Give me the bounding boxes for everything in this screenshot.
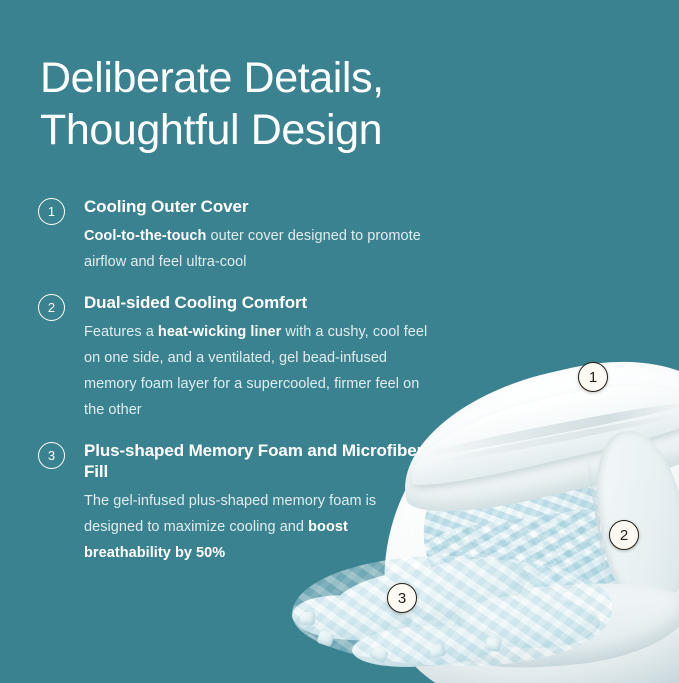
feature-body-1-bold: Cool-to-the-touch	[84, 228, 206, 244]
text-content-layer: Deliberate Details, Thoughtful Design 1 …	[0, 0, 679, 683]
feature-number-badge-3: 3	[38, 442, 65, 469]
feature-list: 1 Cooling Outer Cover Cool-to-the-touch …	[38, 196, 438, 583]
page-title: Deliberate Details, Thoughtful Design	[40, 52, 560, 156]
feature-number-badge-1: 1	[38, 198, 65, 225]
feature-item-3: 3 Plus-shaped Memory Foam and Microfiber…	[38, 440, 438, 566]
product-feature-graphic: 1 2 3 Deliberate Details, Thoughtful Des…	[0, 0, 679, 683]
feature-number-badge-2: 2	[38, 294, 65, 321]
feature-heading-2: Dual-sided Cooling Comfort	[84, 292, 438, 313]
feature-heading-3: Plus-shaped Memory Foam and Microfiber F…	[84, 440, 438, 482]
feature-item-2: 2 Dual-sided Cooling Comfort Features a …	[38, 292, 438, 423]
feature-body-2-before: Features a	[84, 324, 158, 340]
feature-body-2-bold: heat-wicking liner	[158, 324, 281, 340]
feature-heading-1: Cooling Outer Cover	[84, 196, 438, 217]
feature-body-1: Cool-to-the-touch outer cover designed t…	[84, 223, 438, 275]
feature-item-1: 1 Cooling Outer Cover Cool-to-the-touch …	[38, 196, 438, 275]
feature-body-2: Features a heat-wicking liner with a cus…	[84, 319, 438, 423]
feature-body-3: The gel-infused plus-shaped memory foam …	[84, 488, 438, 566]
